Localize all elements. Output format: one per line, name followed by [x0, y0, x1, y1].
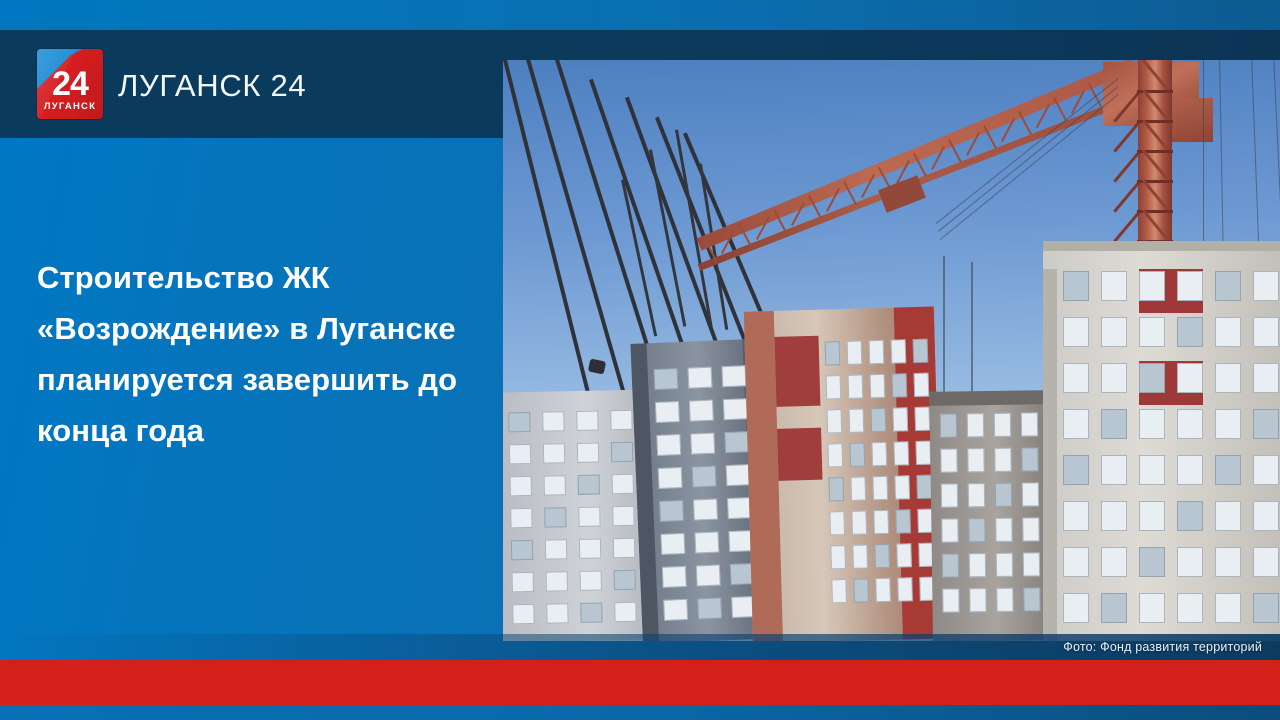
- window: [577, 442, 599, 462]
- apartment-building: [930, 390, 1051, 641]
- window: [1177, 317, 1203, 347]
- window: [1063, 363, 1089, 393]
- window: [1139, 593, 1165, 623]
- window: [510, 508, 532, 528]
- window: [723, 398, 748, 420]
- window: [1215, 547, 1241, 577]
- window: [544, 475, 566, 495]
- window: [1253, 317, 1279, 347]
- window: [849, 442, 865, 466]
- window: [1063, 409, 1089, 439]
- window: [827, 409, 843, 433]
- window: [688, 367, 713, 389]
- window: [941, 518, 958, 542]
- apartment-building: [744, 306, 943, 641]
- news-card: 24 ЛУГАНСК ЛУГАНСК 24 Строительство ЖК «…: [0, 0, 1280, 720]
- window: [1101, 501, 1127, 531]
- window: [1139, 455, 1165, 485]
- window: [1021, 447, 1038, 471]
- window: [697, 597, 722, 619]
- window: [941, 483, 958, 507]
- window: [892, 373, 908, 397]
- window: [871, 408, 887, 432]
- window: [722, 365, 747, 387]
- window: [825, 341, 841, 365]
- window: [994, 448, 1011, 472]
- window: [1063, 455, 1089, 485]
- window: [1101, 593, 1127, 623]
- window: [1253, 363, 1279, 393]
- bottom-red-stripe: [0, 660, 1280, 705]
- window: [580, 602, 602, 622]
- window: [968, 483, 985, 507]
- window: [914, 373, 930, 397]
- window: [1177, 409, 1203, 439]
- window: [995, 483, 1012, 507]
- window: [827, 443, 843, 467]
- construction-site-photo: [503, 60, 1280, 641]
- window: [659, 500, 684, 522]
- window: [852, 544, 868, 568]
- bottom-blue-stripe: [0, 705, 1280, 720]
- window: [850, 476, 866, 500]
- window: [1215, 363, 1241, 393]
- window: [655, 401, 680, 423]
- window: [940, 413, 957, 437]
- window: [1023, 587, 1040, 611]
- window: [913, 339, 929, 363]
- window: [696, 564, 721, 586]
- window: [1253, 271, 1279, 301]
- window: [726, 464, 751, 486]
- window: [1101, 455, 1127, 485]
- window: [893, 407, 909, 431]
- facade-strip: [930, 390, 1048, 406]
- window: [542, 411, 564, 431]
- window: [1177, 547, 1203, 577]
- window: [1063, 547, 1089, 577]
- window: [1139, 363, 1165, 393]
- window: [914, 407, 930, 431]
- window: [576, 411, 598, 431]
- window: [996, 588, 1013, 612]
- window: [658, 467, 683, 489]
- window: [995, 518, 1012, 542]
- window: [1139, 409, 1165, 439]
- window: [894, 475, 910, 499]
- window: [830, 545, 846, 569]
- window: [1215, 593, 1241, 623]
- window: [690, 433, 715, 455]
- facade-strip: [1043, 269, 1057, 641]
- window: [654, 368, 679, 390]
- window: [895, 509, 911, 533]
- window: [689, 400, 714, 422]
- window: [1177, 593, 1203, 623]
- window: [511, 540, 533, 560]
- window: [1063, 271, 1089, 301]
- window: [1253, 455, 1279, 485]
- logo-number: 24: [37, 67, 103, 101]
- window: [1215, 501, 1241, 531]
- window: [967, 448, 984, 472]
- luhansk24-logo-icon[interactable]: 24 ЛУГАНСК: [37, 49, 103, 119]
- window: [872, 476, 888, 500]
- window: [612, 474, 634, 494]
- window: [544, 507, 566, 527]
- window: [1063, 317, 1089, 347]
- window: [1139, 547, 1165, 577]
- window: [1101, 409, 1127, 439]
- apartment-building: [1043, 241, 1280, 641]
- window: [916, 475, 932, 499]
- window: [940, 448, 957, 472]
- window: [1139, 271, 1165, 301]
- window: [831, 579, 847, 603]
- window: [1253, 593, 1279, 623]
- window: [546, 603, 568, 623]
- window: [510, 476, 532, 496]
- window: [942, 553, 959, 577]
- window: [1139, 501, 1165, 531]
- window: [1215, 271, 1241, 301]
- window: [1022, 517, 1039, 541]
- window: [851, 510, 867, 534]
- channel-name: ЛУГАНСК 24: [118, 67, 306, 105]
- facade-strip: [777, 428, 822, 481]
- window: [1253, 501, 1279, 531]
- window: [663, 599, 688, 621]
- window: [828, 477, 844, 501]
- window: [1101, 547, 1127, 577]
- window: [509, 444, 531, 464]
- window: [1101, 363, 1127, 393]
- window: [612, 506, 634, 526]
- window: [1253, 547, 1279, 577]
- window: [1177, 455, 1203, 485]
- window: [826, 375, 842, 399]
- window: [968, 518, 985, 542]
- window: [662, 566, 687, 588]
- window: [967, 413, 984, 437]
- page-title: Строительство ЖК «Возрождение» в Луганск…: [37, 252, 467, 456]
- window: [1177, 501, 1203, 531]
- window: [543, 443, 565, 463]
- window: [1215, 455, 1241, 485]
- window: [942, 588, 959, 612]
- window: [614, 602, 636, 622]
- photo-credit: Фото: Фонд развития территорий: [1063, 639, 1262, 655]
- window: [693, 499, 718, 521]
- window: [694, 532, 719, 554]
- window: [969, 553, 986, 577]
- window: [724, 431, 749, 453]
- window: [829, 511, 845, 535]
- window: [869, 340, 885, 364]
- window: [915, 441, 931, 465]
- window: [897, 577, 913, 601]
- window: [871, 442, 887, 466]
- window: [875, 578, 891, 602]
- top-accent-strip: [0, 0, 1280, 30]
- window: [580, 570, 602, 590]
- window: [660, 533, 685, 555]
- window: [1022, 482, 1039, 506]
- window: [579, 538, 601, 558]
- window: [512, 604, 534, 624]
- window: [847, 341, 863, 365]
- facade-strip: [1043, 241, 1280, 251]
- window: [1177, 271, 1203, 301]
- window: [692, 466, 717, 488]
- window: [578, 474, 600, 494]
- window: [874, 544, 890, 568]
- window: [1063, 593, 1089, 623]
- window: [613, 538, 635, 558]
- window: [853, 578, 869, 602]
- window: [1023, 552, 1040, 576]
- window: [578, 506, 600, 526]
- window: [893, 441, 909, 465]
- crane-cable: [936, 78, 1119, 224]
- window: [994, 413, 1011, 437]
- window: [1101, 317, 1127, 347]
- window: [545, 539, 567, 559]
- window: [1177, 363, 1203, 393]
- rebar-node: [588, 358, 606, 374]
- window: [849, 408, 865, 432]
- window: [1021, 412, 1038, 436]
- window: [1101, 271, 1127, 301]
- window: [1063, 501, 1089, 531]
- window: [1215, 409, 1241, 439]
- window: [614, 570, 636, 590]
- apartment-building: [503, 390, 651, 641]
- window: [610, 410, 632, 430]
- window: [873, 510, 889, 534]
- facade-strip: [774, 336, 820, 407]
- window: [656, 434, 681, 456]
- window: [870, 374, 886, 398]
- window: [848, 374, 864, 398]
- crane-cable: [940, 94, 1119, 240]
- window: [546, 571, 568, 591]
- window: [996, 553, 1013, 577]
- window: [1139, 317, 1165, 347]
- window: [891, 339, 907, 363]
- window: [969, 588, 986, 612]
- window: [512, 572, 534, 592]
- window: [1253, 409, 1279, 439]
- window: [896, 543, 912, 567]
- window: [1215, 317, 1241, 347]
- window: [611, 442, 633, 462]
- window: [508, 412, 530, 432]
- logo-word: ЛУГАНСК: [37, 102, 103, 112]
